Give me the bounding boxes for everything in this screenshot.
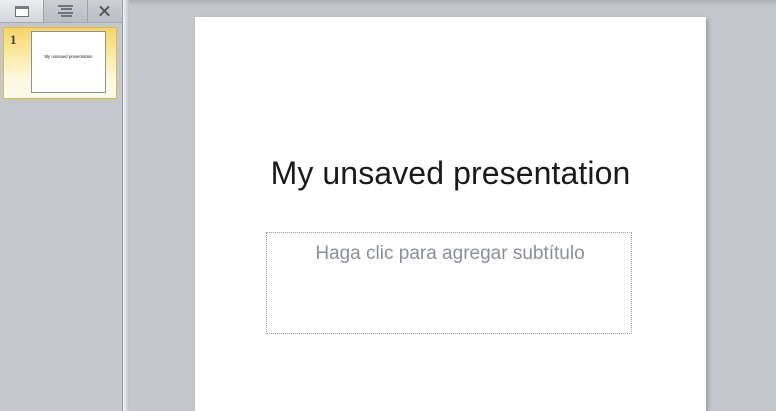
slide-workspace: My unsaved presentation Haga clic para a… [129,0,776,411]
slide-thumbnail-preview[interactable]: My unsaved presentation [31,31,106,93]
subtitle-placeholder-text: Haga clic para agregar subtítulo [267,243,633,266]
slides-rectangle-icon [15,6,29,17]
tab-outline[interactable] [44,0,88,22]
close-x-icon [98,5,111,18]
slide-canvas[interactable]: My unsaved presentation Haga clic para a… [195,17,706,411]
pane-tab-bar [0,0,122,23]
slides-pane: 1 My unsaved presentation [0,0,122,411]
presentation-editor-window: 1 My unsaved presentation My unsaved pre… [0,0,776,411]
slide-number-label: 1 [10,33,17,46]
slide-thumbnail-item[interactable]: 1 My unsaved presentation [3,27,117,99]
close-pane-button[interactable] [88,0,121,22]
pane-splitter-line [122,0,123,411]
slide-title-text[interactable]: My unsaved presentation [195,155,706,193]
slide-thumbnail-title: My unsaved presentation [32,55,105,59]
tab-slides[interactable] [0,0,44,22]
slide-thumbnail-list[interactable]: 1 My unsaved presentation [0,23,122,411]
pane-splitter[interactable] [122,0,129,411]
workspace-top-shade [129,0,776,6]
outline-lines-icon [58,5,73,17]
subtitle-placeholder-box[interactable]: Haga clic para agregar subtítulo [266,232,632,334]
